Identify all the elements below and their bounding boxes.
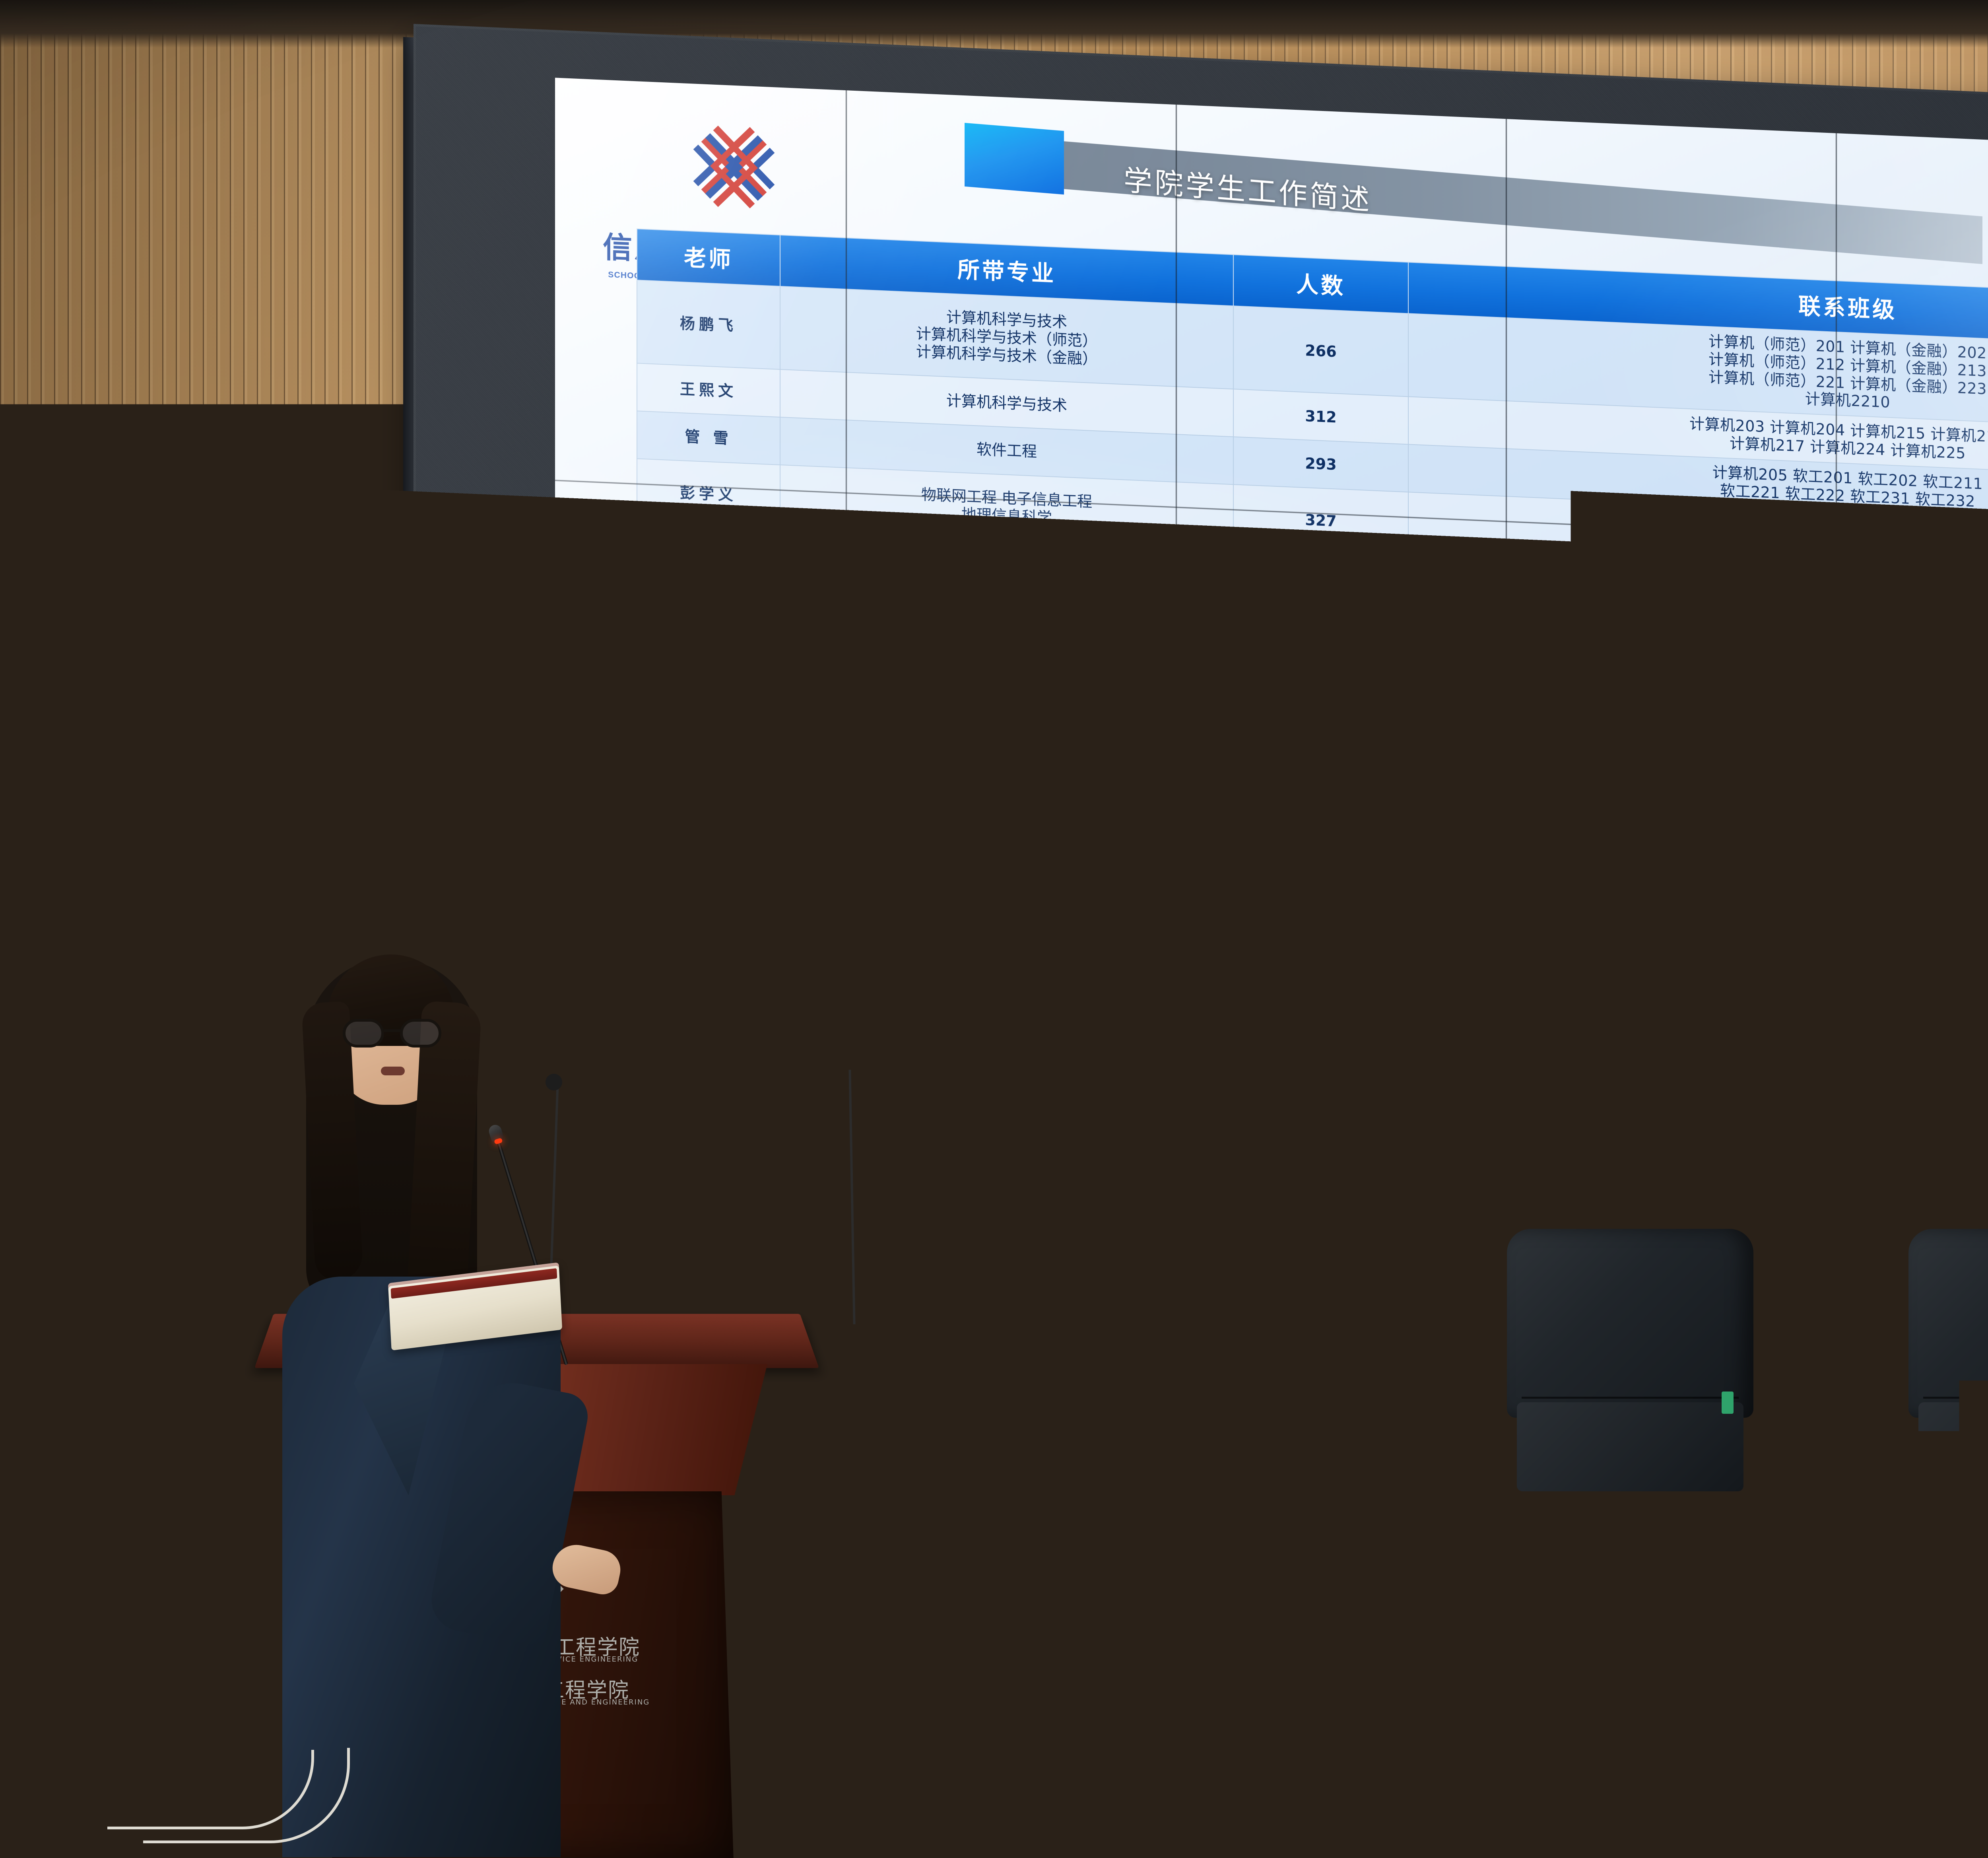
chair-lumbar (1918, 1402, 1988, 1491)
presentation-slide: 信息科学与技术学院 SCHOOL OF INFORMATION SCIENCE … (555, 78, 1988, 959)
chair-backrest (1507, 1229, 1753, 1418)
cell-student-count: 345 (1233, 615, 1408, 688)
power-outlet[interactable] (126, 1712, 166, 1746)
table-decor-panel (994, 1552, 1582, 1774)
mic-capsule (1892, 1316, 1906, 1336)
school-emblem-icon (684, 115, 784, 219)
cell-teacher-name: 王熙文 (637, 363, 780, 417)
cell-teacher-name: 李俊杰 (637, 524, 780, 595)
microphone-on-tripod[interactable] (1284, 1320, 1415, 1535)
outlet-slot (99, 1723, 116, 1728)
ceiling-shadow-strip (0, 0, 1988, 48)
mic-capsule (1022, 1321, 1036, 1341)
cell-student-count: 338 (1233, 550, 1408, 623)
presenter-person (235, 927, 632, 1857)
conference-table (899, 1467, 1988, 1858)
chair-seam (1104, 1400, 1314, 1402)
table-decor-panel (1718, 1552, 1988, 1774)
presenter-mouth (381, 1067, 405, 1075)
chair-label-tag (1722, 1392, 1734, 1414)
tripod-leg (1344, 1435, 1391, 1526)
chair-seam (1923, 1397, 1988, 1399)
cell-student-count: 327 (1233, 484, 1408, 558)
glasses-lens-right (400, 1019, 441, 1048)
tripod-leg (1301, 1435, 1347, 1526)
chair-backrest (1908, 1229, 1988, 1418)
glasses-bridge (384, 1029, 402, 1032)
floor-cable (724, 1344, 859, 1702)
chair-lumbar (1517, 1402, 1743, 1491)
power-outlet[interactable] (87, 1714, 127, 1748)
tripod-post (1344, 1356, 1348, 1440)
major-line: 软件工程 (783, 432, 1231, 470)
table-diamond-inlay (1196, 1570, 1381, 1756)
column-header-teacher: 老师 (637, 229, 780, 286)
column-header-count: 人数 (1233, 255, 1408, 313)
cell-teacher-name: 钱欣宜 (637, 655, 780, 690)
outlet-plug (97, 1732, 118, 1748)
tripod-leg (1340, 1436, 1347, 1535)
outlet-slot (138, 1721, 155, 1726)
conference-chair[interactable] (1908, 1229, 1988, 1491)
outlet-plug (136, 1730, 157, 1746)
mic-capsule (1103, 1316, 1117, 1336)
glasses-lens-left (343, 1019, 384, 1048)
table-panel-seam (1646, 1514, 1650, 1858)
cell-student-count: 312 (1233, 389, 1408, 445)
cell-teacher-name: 吴 婧 (637, 589, 780, 661)
table-body: 杨鹏飞计算机科学与技术计算机科学与技术（师范）计算机科学与技术（金融）266计算… (637, 280, 1988, 756)
major-line: 计算机科学与技术 (783, 385, 1231, 422)
cell-student-count: 266 (1233, 306, 1408, 396)
title-accent-block (965, 123, 1064, 194)
conference-hall-scene: 信息科学与技术学院 SCHOOL OF INFORMATION SCIENCE … (0, 0, 1988, 1858)
presenter-glasses (343, 1019, 441, 1048)
cell-student-count: 293 (1233, 437, 1408, 492)
cell-teacher-name: 杨鹏飞 (637, 280, 780, 369)
video-wall-display[interactable]: 信息科学与技术学院 SCHOOL OF INFORMATION SCIENCE … (414, 24, 1988, 1164)
cell-teacher-name: 管 雪 (637, 411, 780, 464)
desk-control-unit[interactable] (1769, 1467, 1853, 1491)
conference-chair[interactable] (1507, 1229, 1753, 1491)
chair-seam (1522, 1397, 1739, 1399)
cell-teacher-name: 彭学义 (637, 459, 780, 530)
